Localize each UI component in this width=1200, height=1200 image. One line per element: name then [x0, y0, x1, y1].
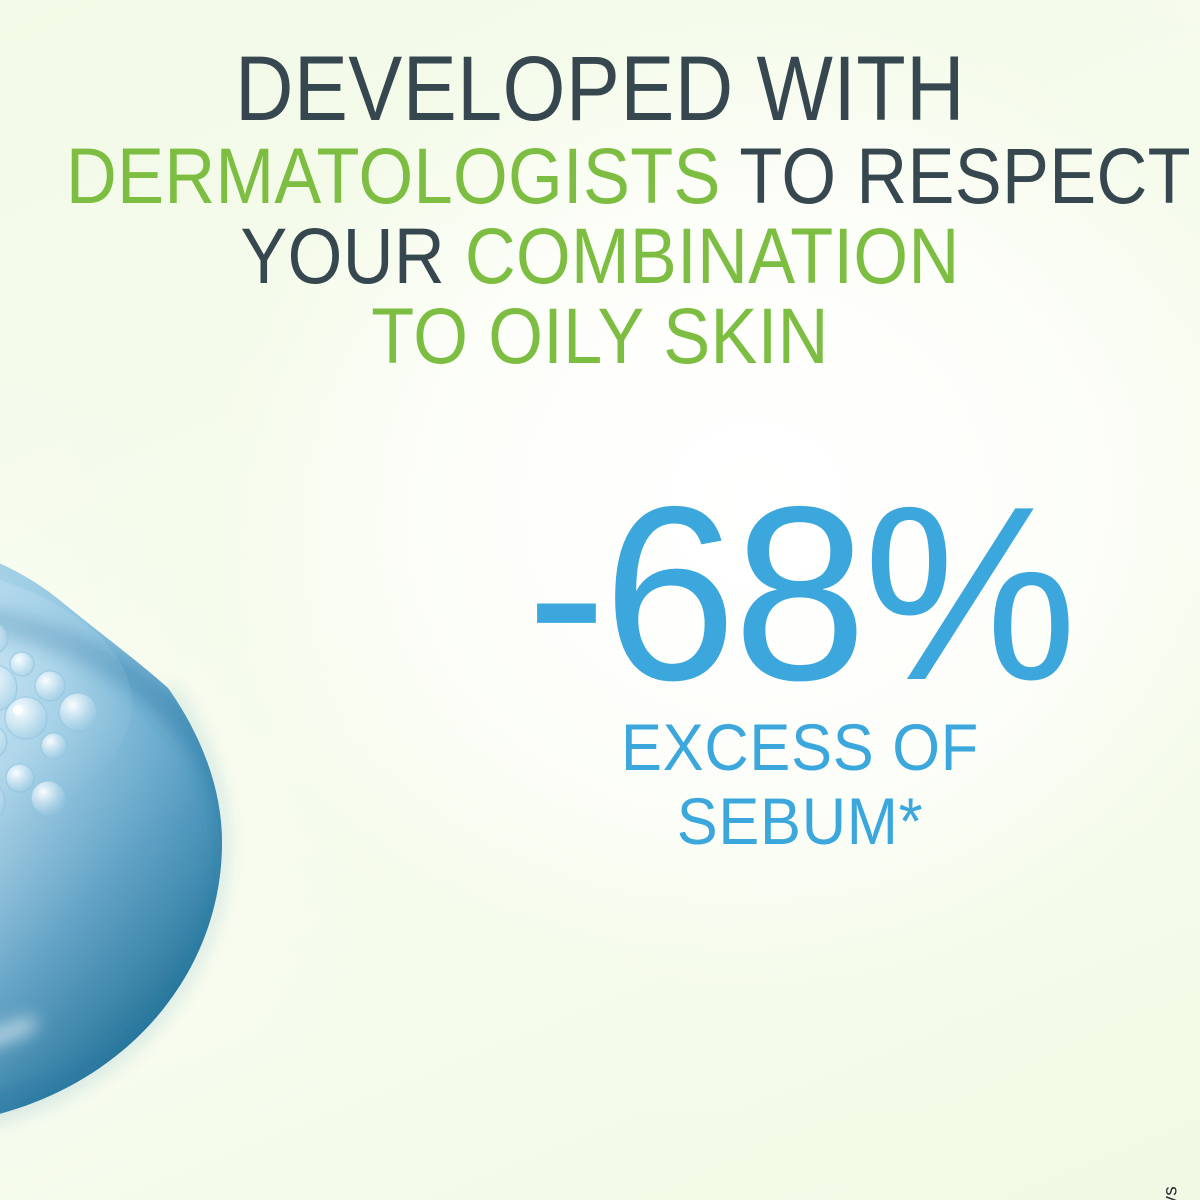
statistic-caption-line-2: SEBUM* — [493, 785, 1107, 859]
statistic-caption-line-1: EXCESS OF — [493, 711, 1107, 785]
headline-line-2: DERMATOLOGISTS TO RESPECT — [66, 137, 1134, 215]
headline-line-4: TO OILY SKIN — [66, 297, 1134, 375]
statistic-figure: -68% — [480, 492, 1120, 695]
headline-line-1: DEVELOPED WITH — [72, 44, 1128, 135]
water-droplet-image — [0, 490, 482, 1200]
footnote-vertical: *Sebumetry test on 20 volunteers, 28 day… — [1160, 1186, 1182, 1200]
headline-line-3-highlight: COMBINATION — [465, 211, 960, 300]
headline-block: DEVELOPED WITH DERMATOLOGISTS TO RESPECT… — [0, 44, 1200, 378]
statistic-caption: EXCESS OF SEBUM* — [493, 711, 1107, 859]
headline-line-2-rest: TO RESPECT — [721, 131, 1191, 220]
headline-line-1-text: DEVELOPED WITH — [235, 38, 965, 140]
headline-line-3: YOUR COMBINATION — [66, 217, 1134, 295]
statistic-block: -68% EXCESS OF SEBUM* — [470, 492, 1130, 859]
headline-line-2-highlight: DERMATOLOGISTS — [66, 131, 721, 220]
headline-line-3-lead: YOUR — [240, 211, 464, 300]
headline-line-4-highlight: TO OILY SKIN — [371, 291, 829, 380]
ad-canvas: DEVELOPED WITH DERMATOLOGISTS TO RESPECT… — [0, 0, 1200, 1200]
